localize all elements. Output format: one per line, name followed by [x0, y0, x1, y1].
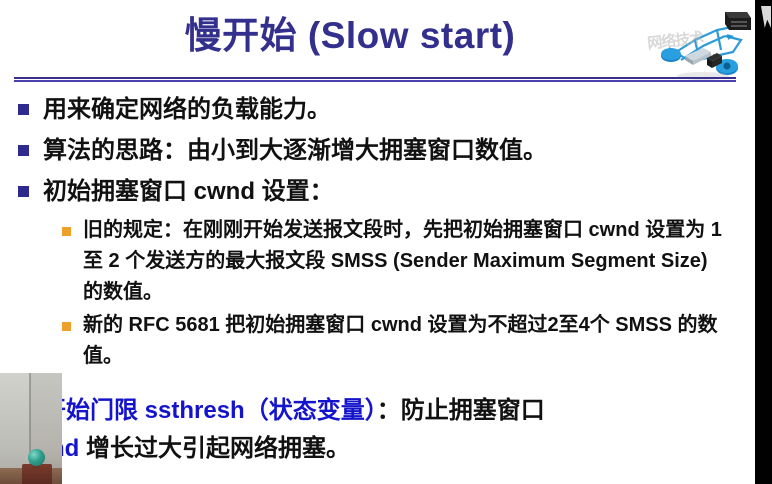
square-bullet-icon [18, 145, 29, 156]
slide-body: 用来确定网络的负载能力。 算法的思路：由小到大逐渐增大拥塞窗口数值。 初始拥塞窗… [0, 92, 755, 484]
screen: 慢开始 (Slow start) [0, 0, 772, 484]
final-bullet-line-1: 慢开始门限 ssthresh（状态变量）：防止拥塞窗口 [18, 392, 748, 430]
globe-icon [28, 449, 45, 466]
webcam-video-overlay[interactable] [0, 373, 62, 484]
sub-bullet-item: 旧的规定：在刚刚开始发送报文段时，先把初始拥塞窗口 cwnd 设置为 1 至 2… [0, 215, 755, 308]
square-bullet-icon [62, 322, 71, 331]
page-title: 慢开始 (Slow start) [0, 8, 700, 64]
network-diagram-icon: 网络技术 [655, 10, 755, 86]
bullet-item: 用来确定网络的负载能力。 [0, 92, 755, 128]
bullet-text: 用来确定网络的负载能力。 [43, 92, 331, 128]
final-bullet-blue-run: 慢开始门限 ssthresh（状态变量） [18, 397, 377, 424]
slide-title-bar: 慢开始 (Slow start) [0, 8, 755, 72]
bullet-item: 初始拥塞窗口 cwnd 设置： [0, 174, 755, 210]
square-bullet-icon [18, 186, 29, 197]
letterbox-mark-icon [761, 6, 771, 28]
final-bullet-black-run-2: 增长过大引起网络拥塞。 [79, 435, 350, 462]
sub-bullet-text: 新的 RFC 5681 把初始拥塞窗口 cwnd 设置为不超过2至4个 SMSS… [83, 310, 733, 372]
bullet-item-final: 慢开始门限 ssthresh（状态变量）：防止拥塞窗口 cwnd 增长过大引起网… [18, 392, 748, 468]
letterbox-bar-right [755, 0, 772, 484]
divider-line-top [14, 77, 736, 79]
bullet-text: 初始拥塞窗口 cwnd 设置： [43, 174, 334, 210]
presentation-slide: 慢开始 (Slow start) [0, 0, 755, 484]
bullet-item: 算法的思路：由小到大逐渐增大拥塞窗口数值。 [0, 133, 755, 169]
title-divider [14, 77, 736, 83]
square-bullet-icon [18, 104, 29, 115]
divider-line-bottom [14, 80, 736, 82]
sub-bullet-text: 旧的规定：在刚刚开始发送报文段时，先把初始拥塞窗口 cwnd 设置为 1 至 2… [83, 215, 733, 308]
square-bullet-icon [62, 227, 71, 236]
sub-bullet-item: 新的 RFC 5681 把初始拥塞窗口 cwnd 设置为不超过2至4个 SMSS… [0, 310, 755, 372]
final-bullet-black-run: ：防止拥塞窗口 [377, 397, 545, 424]
bullet-text: 算法的思路：由小到大逐渐增大拥塞窗口数值。 [43, 133, 547, 169]
final-bullet-line-2: cwnd 增长过大引起网络拥塞。 [18, 430, 748, 468]
